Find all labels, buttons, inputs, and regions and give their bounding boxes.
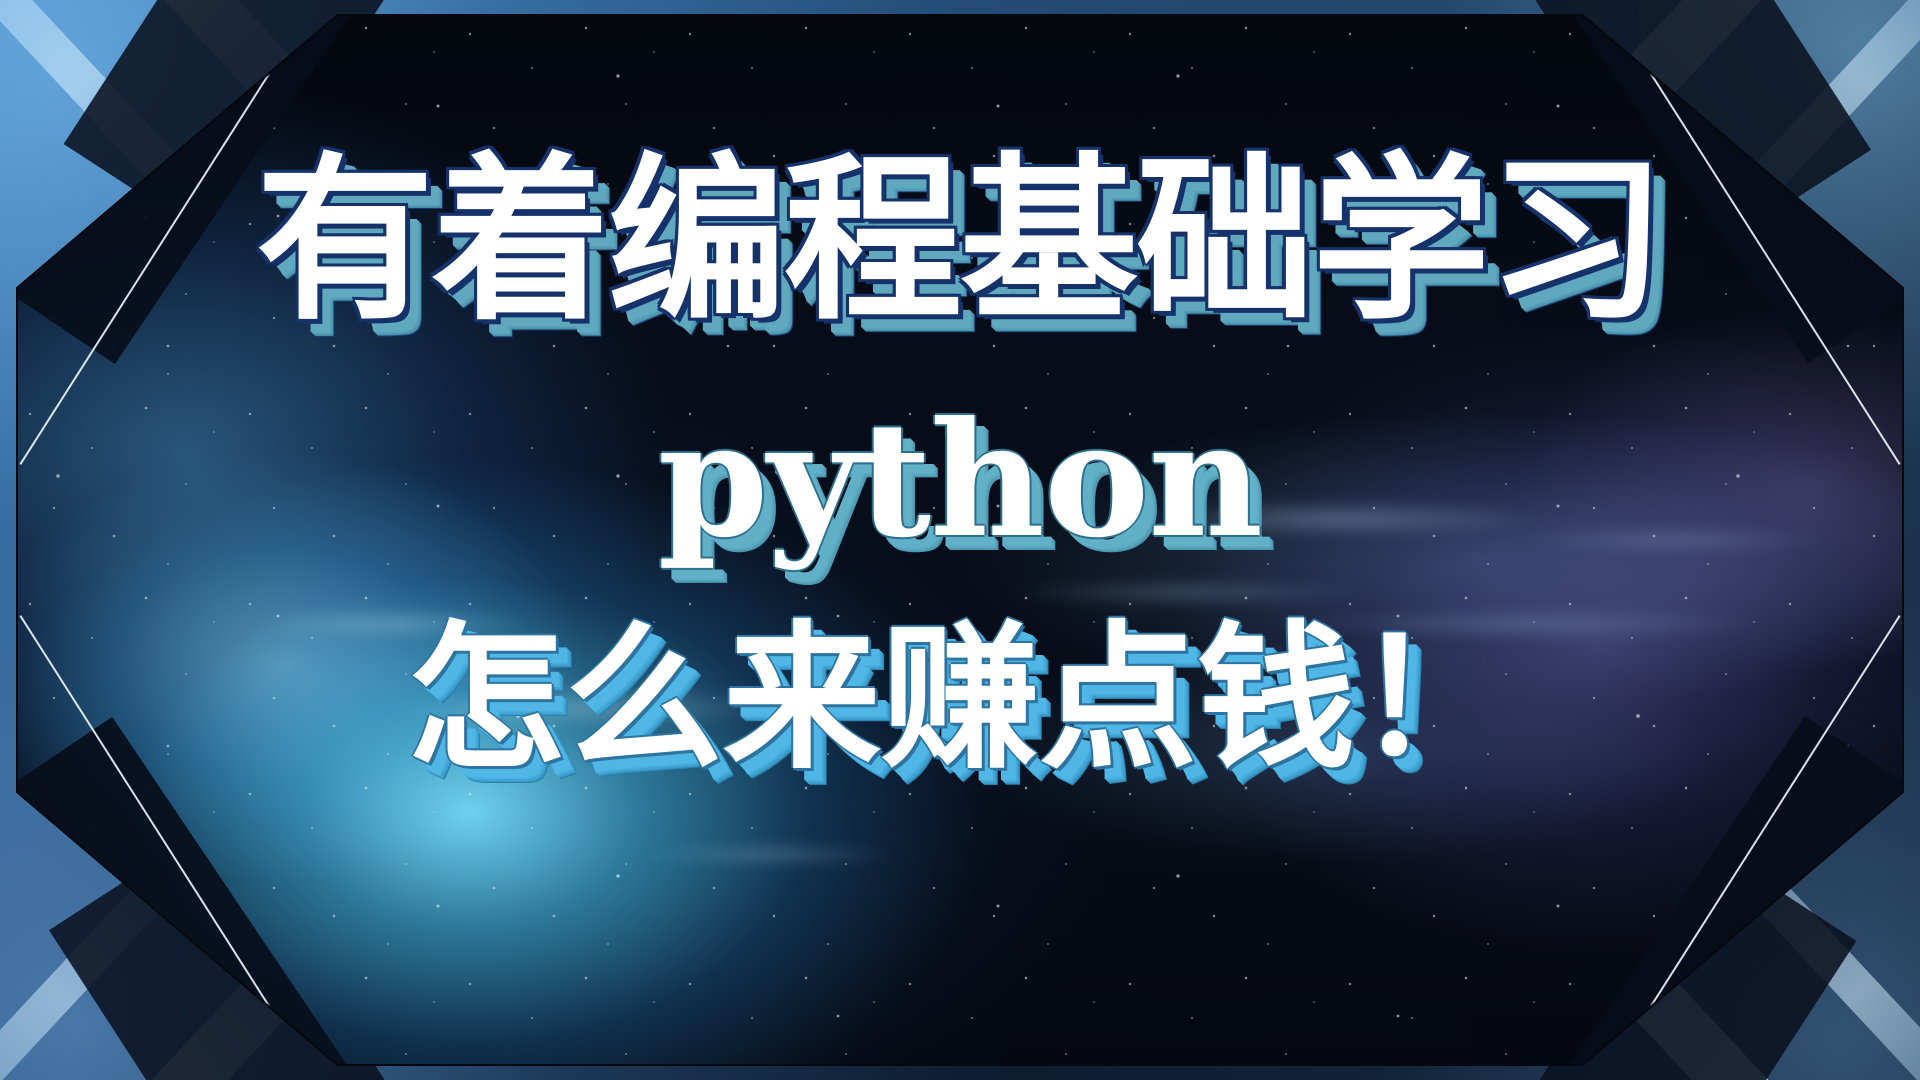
thumbnail-canvas: 有着编程基础学习 python 怎么来赚点钱！ bbox=[0, 0, 1920, 1080]
subject-text: python bbox=[658, 402, 1262, 560]
tagline-text: 怎么来赚点钱！ bbox=[407, 620, 1513, 778]
title-text-block: 有着编程基础学习 python 怎么来赚点钱！ bbox=[0, 0, 1920, 1080]
headline-text: 有着编程基础学习 bbox=[256, 152, 1664, 330]
